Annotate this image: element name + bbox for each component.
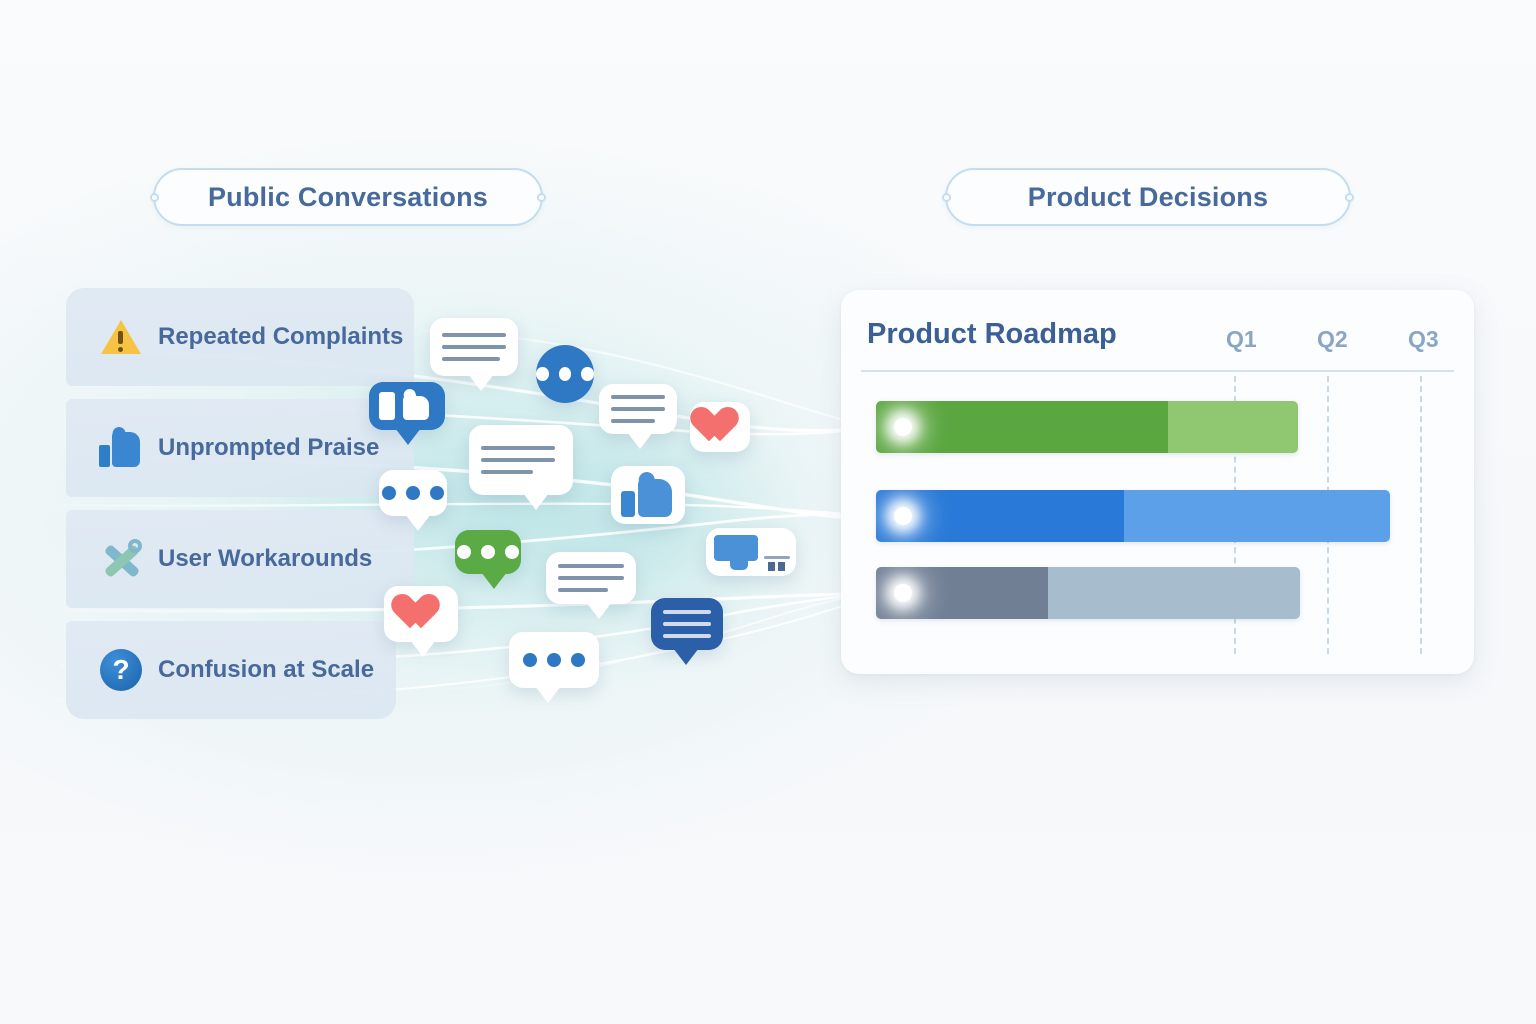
thumbs-up-icon — [621, 471, 675, 519]
bubble-text-line — [611, 407, 665, 411]
pill-left-connector-left — [150, 193, 159, 202]
warning-triangle-icon — [98, 314, 144, 360]
bar-segment-planned — [1124, 490, 1390, 542]
roadmap-title: Product Roadmap — [867, 318, 1117, 351]
signal-row-user-workarounds[interactable]: User Workarounds — [66, 510, 414, 608]
bubble-text-line — [481, 458, 555, 462]
typing-dots-icon — [379, 486, 447, 500]
typing-dots-icon — [455, 545, 521, 559]
bubble-text-3 — [469, 425, 573, 495]
bar-segment-completed — [876, 490, 1124, 542]
bubble-text-line — [442, 345, 506, 349]
bubble-text-dk — [651, 598, 723, 650]
bubble-text-line — [558, 564, 624, 568]
product-roadmap-panel: Product Roadmap Q1Q2Q3 — [841, 290, 1474, 674]
quarter-label-q1: Q1 — [1226, 326, 1257, 353]
bubble-text-line — [663, 634, 711, 638]
bar-connection-glow — [894, 584, 912, 602]
bubble-dots-1 — [379, 470, 447, 516]
signal-row-repeated-complaints[interactable]: Repeated Complaints — [66, 288, 414, 386]
signal-label: Confusion at Scale — [158, 656, 374, 684]
bar-connection-glow — [894, 507, 912, 525]
bubble-text-line — [442, 333, 506, 337]
pill-product-decisions[interactable]: Product Decisions — [945, 168, 1351, 226]
signal-list: Repeated Complaints Unprompted Praise Us… — [66, 288, 414, 712]
bubble-heart-2 — [384, 586, 458, 642]
illustration-canvas: Public Conversations Product Decisions R… — [0, 0, 1536, 1024]
bubble-text-2 — [599, 384, 677, 434]
signal-label: Unprompted Praise — [158, 434, 379, 462]
bubble-thumb-1 — [611, 466, 685, 524]
bubble-thumbs-pair — [369, 382, 445, 430]
signal-label: Repeated Complaints — [158, 323, 403, 351]
roadmap-divider — [861, 370, 1454, 372]
bubble-text-1 — [430, 318, 518, 376]
pill-public-conversations[interactable]: Public Conversations — [153, 168, 543, 226]
bubble-dots-2 — [509, 632, 599, 688]
bubble-text-line — [611, 395, 665, 399]
roadmap-bar-blue[interactable] — [876, 490, 1390, 542]
heart-icon — [700, 408, 740, 444]
bubble-text-line — [663, 610, 711, 614]
quarter-label-q3: Q3 — [1408, 326, 1439, 353]
signal-row-unprompted-praise[interactable]: Unprompted Praise — [66, 399, 414, 497]
bubble-text-line — [442, 357, 500, 361]
thumbs-up-icon — [98, 425, 144, 471]
roadmap-bar-green[interactable] — [876, 401, 1298, 453]
bubble-text-line — [663, 622, 711, 626]
bubble-dots-round — [536, 345, 594, 403]
bubble-text-line — [558, 588, 608, 592]
bar-segment-completed — [876, 401, 1168, 453]
pill-right-connector-right — [1345, 193, 1354, 202]
bubble-text-line — [481, 446, 555, 450]
signal-row-confusion-at-scale[interactable]: ? Confusion at Scale — [66, 621, 396, 719]
quarter-label-q2: Q2 — [1317, 326, 1348, 353]
bubble-text-line — [558, 576, 624, 580]
bubble-video-card — [706, 528, 796, 576]
bar-segment-planned — [1168, 401, 1298, 453]
pill-left-label: Public Conversations — [208, 182, 488, 213]
bubble-text-4 — [546, 552, 636, 604]
bar-segment-planned — [1048, 567, 1300, 619]
gridline-3 — [1420, 376, 1422, 654]
signal-label: User Workarounds — [158, 545, 372, 573]
pill-right-connector-left — [942, 193, 951, 202]
question-mark-icon: ? — [98, 647, 144, 693]
bar-connection-glow — [894, 418, 912, 436]
bubble-text-line — [611, 419, 655, 423]
heart-icon — [401, 595, 441, 631]
wrench-screwdriver-icon — [98, 536, 144, 582]
bubble-heart-1 — [690, 402, 750, 452]
bubble-dots-green — [455, 530, 521, 574]
pill-right-label: Product Decisions — [1028, 182, 1268, 213]
bubble-text-line — [481, 470, 533, 474]
roadmap-bar-gray[interactable] — [876, 567, 1300, 619]
typing-dots-icon — [536, 367, 594, 381]
typing-dots-icon — [509, 653, 599, 667]
pill-left-connector-right — [537, 193, 546, 202]
